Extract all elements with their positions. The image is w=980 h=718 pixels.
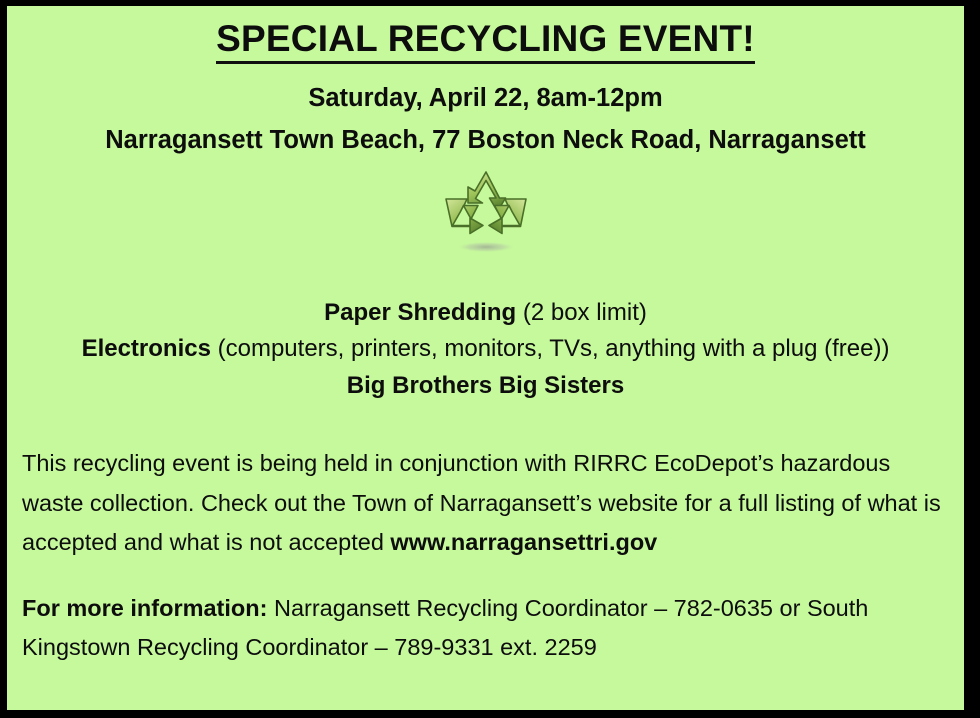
list-item: Paper Shredding (2 box limit): [7, 295, 964, 331]
recycling-logo-shadow: [456, 241, 516, 252]
item-name: Paper Shredding: [324, 299, 516, 326]
accepted-items-list: Paper Shredding (2 box limit) Electronic…: [7, 295, 964, 404]
event-date-line: Saturday, April 22, 8am-12pm: [7, 84, 964, 113]
contact-paragraph: For more information: Narragansett Recyc…: [7, 589, 964, 668]
item-name: Big Brothers Big Sisters: [347, 372, 624, 399]
contact-label: For more information:: [22, 595, 267, 621]
list-item: Big Brothers Big Sisters: [7, 368, 964, 404]
list-item: Electronics (computers, printers, monito…: [7, 331, 964, 367]
recycling-logo-container: [7, 167, 964, 271]
item-detail: (2 box limit): [516, 299, 647, 326]
page-title: SPECIAL RECYCLING EVENT!: [7, 20, 964, 64]
event-location-line: Narragansett Town Beach, 77 Boston Neck …: [7, 126, 964, 155]
website-url[interactable]: www.narragansettri.gov: [390, 529, 657, 555]
body-paragraph: This recycling event is being held in co…: [7, 444, 964, 562]
recycling-symbol-icon: [434, 167, 538, 267]
item-detail: (computers, printers, monitors, TVs, any…: [211, 335, 889, 362]
flyer-poster: SPECIAL RECYCLING EVENT! Saturday, April…: [7, 6, 964, 710]
page-title-text: SPECIAL RECYCLING EVENT!: [216, 20, 755, 64]
item-name: Electronics: [82, 335, 211, 362]
recycling-arrow-left: [446, 199, 483, 234]
flyer-frame: SPECIAL RECYCLING EVENT! Saturday, April…: [0, 0, 980, 718]
